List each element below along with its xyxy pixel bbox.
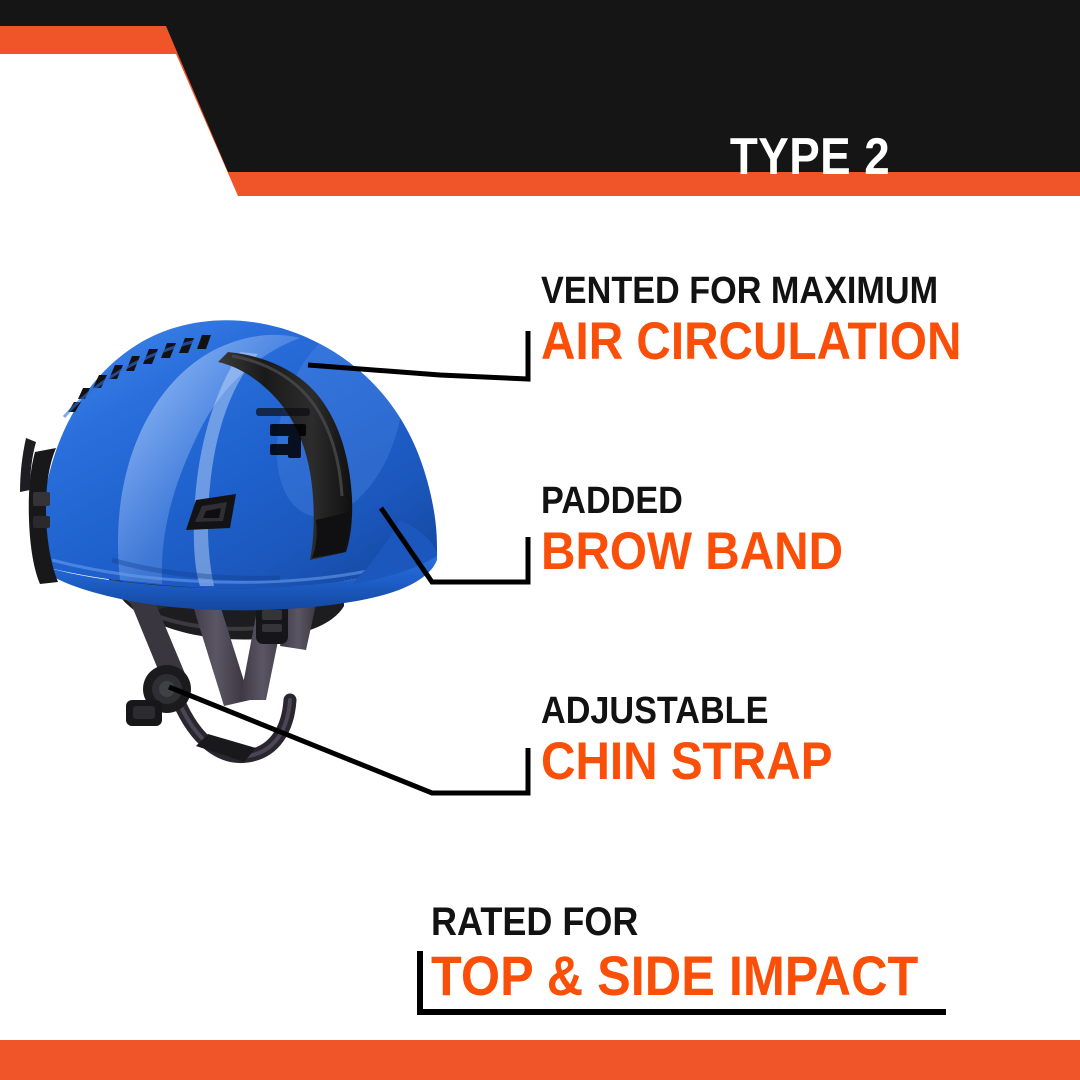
footer-accent-bar [0, 1040, 1080, 1080]
bottom-callout-small: RATED FOR [431, 902, 918, 942]
bottom-callout-big: TOP & SIDE IMPACT [431, 948, 918, 1004]
bottom-callout: RATED FOR TOP & SIDE IMPACT [431, 902, 972, 1004]
infographic-canvas: TYPE 2 SAFETY HELMET [0, 0, 1080, 1080]
